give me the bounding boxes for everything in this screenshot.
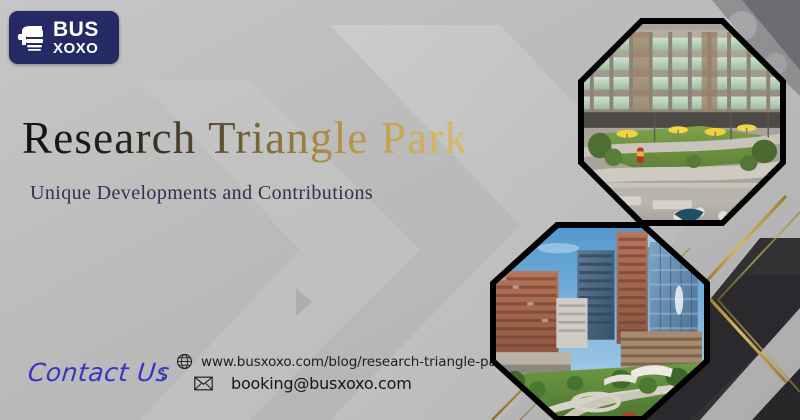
photo-city-skyline-park-art <box>496 228 704 416</box>
photo-office-campus-courtyard <box>578 18 786 226</box>
busxoxo-logo[interactable]: BUS XOXO <box>9 11 119 64</box>
globe-icon <box>176 353 193 370</box>
contact-website-row[interactable]: www.busxoxo.com/blog/research-triangle-p… <box>176 353 514 370</box>
logo-line-xoxo: XOXO <box>53 41 99 56</box>
contact-email-row[interactable]: booking@busxoxo.com <box>194 374 514 393</box>
page-title: Research Triangle Park <box>22 112 468 164</box>
page-subtitle: Unique Developments and Contributions <box>30 182 373 205</box>
contact-separator: : <box>160 360 166 385</box>
contact-details: www.busxoxo.com/blog/research-triangle-p… <box>176 353 514 393</box>
website-url: www.busxoxo.com/blog/research-triangle-p… <box>201 354 514 370</box>
contact-us-label: Contact Us <box>26 358 171 387</box>
promo-banner: BUS XOXO Research Triangle Park Unique D… <box>0 0 800 420</box>
logo-wordmark: BUS XOXO <box>53 19 99 56</box>
bus-icon <box>16 21 50 55</box>
logo-line-bus: BUS <box>53 19 99 40</box>
email-address: booking@busxoxo.com <box>231 374 412 393</box>
photo-city-skyline-park-frame <box>496 228 704 416</box>
photo-office-campus-courtyard-art <box>584 24 780 220</box>
photo-office-campus-courtyard-frame <box>584 24 780 220</box>
envelope-icon <box>194 376 213 391</box>
